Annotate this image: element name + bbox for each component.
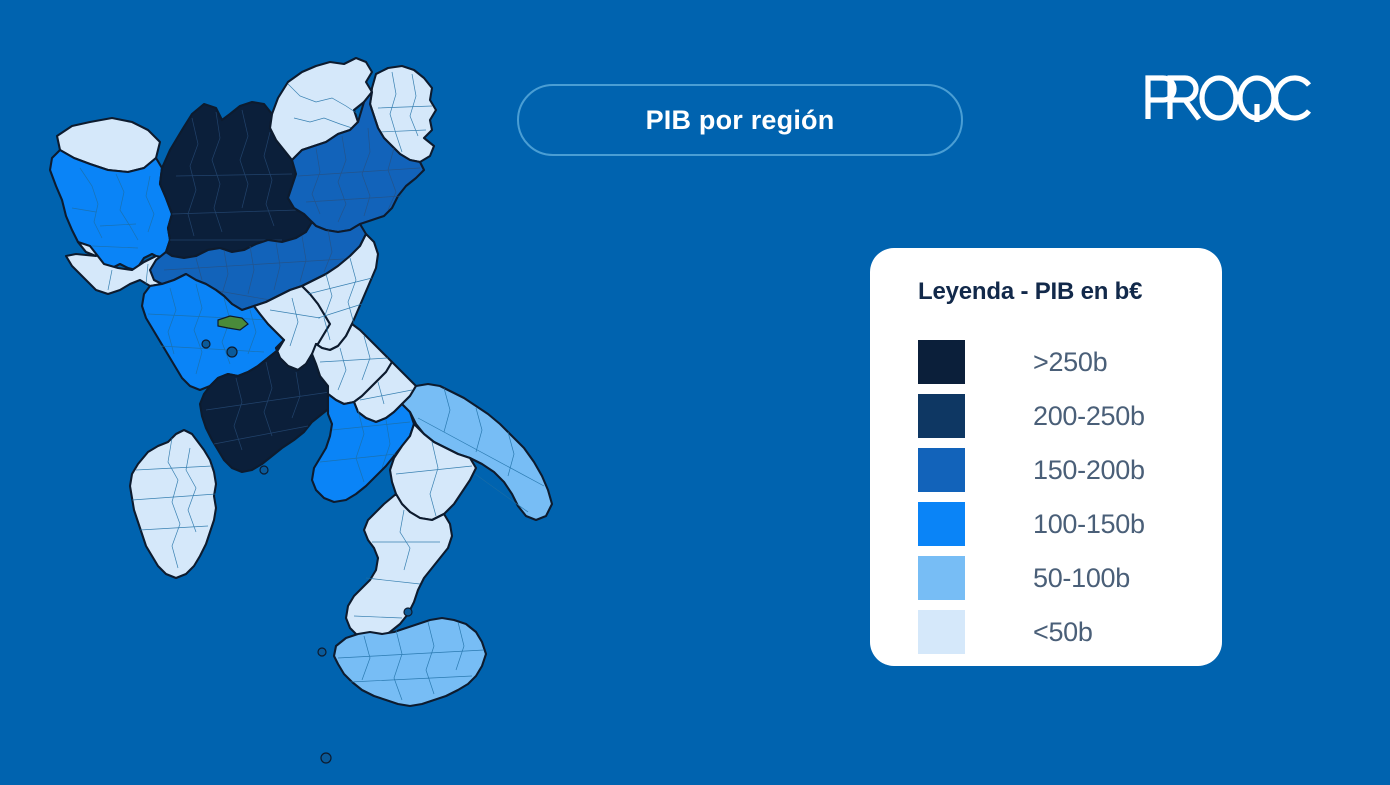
legend-label: 100-150b	[1033, 509, 1145, 540]
page-title: PIB por región	[646, 105, 835, 136]
proqc-logo	[1143, 72, 1315, 124]
legend-card: Leyenda - PIB en b€ >250b 200-250b 150-2…	[870, 248, 1222, 666]
islet-pantelleria	[321, 753, 331, 763]
legend-item[interactable]: 100-150b	[918, 497, 1188, 551]
legend-label: >250b	[1033, 347, 1107, 378]
islet-small-2	[227, 347, 237, 357]
legend-swatch	[918, 502, 965, 546]
legend-item[interactable]: >250b	[918, 335, 1188, 389]
legend-item[interactable]: <50b	[918, 605, 1188, 659]
title-pill: PIB por región	[517, 84, 963, 156]
legend-swatch	[918, 448, 965, 492]
islet-egadi	[318, 648, 326, 656]
legend-items: >250b 200-250b 150-200b 100-150b 50-100b	[918, 335, 1188, 659]
legend-swatch	[918, 610, 965, 654]
islet-aeolian	[404, 608, 412, 616]
legend-item[interactable]: 200-250b	[918, 389, 1188, 443]
legend-swatch	[918, 394, 965, 438]
legend-item[interactable]: 150-200b	[918, 443, 1188, 497]
slide-canvas: PIB por región Leyenda - PIB en b€	[0, 0, 1390, 785]
legend-label: 150-200b	[1033, 455, 1145, 486]
legend-title: Leyenda - PIB en b€	[918, 278, 1142, 306]
legend-item[interactable]: 50-100b	[918, 551, 1188, 605]
islet-small-1	[202, 340, 210, 348]
islet-ponza	[260, 466, 268, 474]
legend-label: 50-100b	[1033, 563, 1130, 594]
legend-label: <50b	[1033, 617, 1093, 648]
proqc-logo-svg	[1143, 72, 1315, 124]
legend-swatch	[918, 340, 965, 384]
legend-label: 200-250b	[1033, 401, 1145, 432]
legend-swatch	[918, 556, 965, 600]
